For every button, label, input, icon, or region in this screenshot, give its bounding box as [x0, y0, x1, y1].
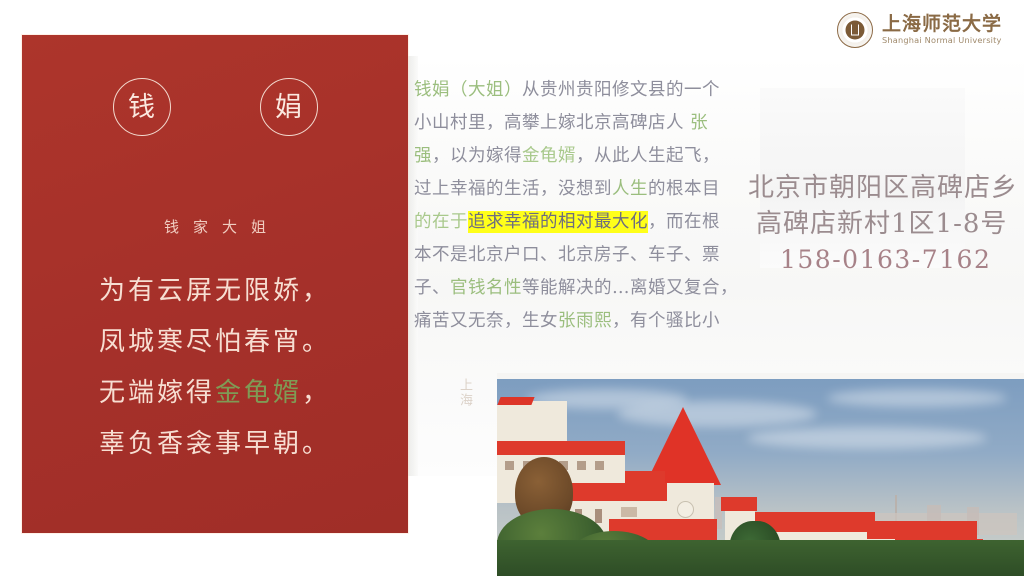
note-line-8: 痛苦又无奈，生女张雨熙，有个骚比小: [414, 305, 766, 338]
note-line-5: 的在于追求幸福的相对最大化，而在根: [414, 206, 766, 239]
note-paragraph: 钱娟（大姐）从贵州贵阳修文县的一个 小山村里，高攀上嫁北京高碑店人 张 强，以为…: [414, 74, 766, 338]
note-line-7-a: 子、: [414, 278, 450, 298]
poem-line-3: 无端嫁得金龟婿，: [22, 380, 408, 406]
note-line-6: 本不是北京户口、北京房子、车子、票: [414, 239, 766, 272]
address-phone: 158-0163-7162: [780, 242, 1024, 278]
note-line-3-b: ，以为嫁得: [432, 146, 522, 166]
note-line-1-a: 钱娟（大姐）: [414, 80, 522, 100]
note-line-4-b: 人生: [612, 179, 648, 199]
note-line-3-d: ，从此人生起飞，: [576, 146, 720, 166]
poem-line-3-green: 金龟婿: [215, 378, 302, 408]
building-roof: [867, 521, 977, 539]
note-line-5-c: ，而在根: [648, 212, 720, 232]
photo-ghost-text: 上海: [455, 378, 474, 408]
note-line-3-a: 强: [414, 146, 432, 166]
building-roof: [497, 441, 625, 455]
note-line-3-c: 金龟婿: [522, 146, 576, 166]
campus-photo: [497, 379, 1024, 576]
window: [621, 507, 637, 517]
note-line-2-c: 张: [684, 113, 708, 133]
cloud: [747, 427, 987, 449]
tower-clock-icon: [677, 501, 694, 518]
note-line-8-c: ，有个骚比小: [612, 311, 720, 331]
ground-foliage: [497, 540, 1024, 576]
window: [577, 461, 586, 470]
note-line-7-b: 官钱名性: [450, 278, 522, 298]
poem-card: 钱 娟 钱家大姐 为有云屏无限娇， 凤城寒尽怕春宵。 无端嫁得金龟婿， 辜负香衾…: [22, 35, 408, 533]
address-line-2: 高碑店新村1区1-8号: [756, 206, 1024, 242]
university-logo-text: 上海师范大学 Shanghai Normal University: [882, 15, 1002, 44]
note-line-1: 钱娟（大姐）从贵州贵阳修文县的一个: [414, 74, 766, 107]
building-roof: [721, 497, 757, 511]
note-line-8-a: 痛苦又无奈，生女: [414, 311, 558, 331]
seal-row: 钱 娟: [22, 78, 408, 136]
university-seal-icon: [837, 12, 873, 48]
slide-canvas: 上海师范大学 Shanghai Normal University 钱 娟 钱家…: [0, 0, 1024, 576]
note-line-7-c: 等能解决的…离婚又复合，: [522, 278, 738, 298]
note-line-4: 过上幸福的生活，没想到人生的根本目: [414, 173, 766, 206]
poem-line-4: 辜负香衾事早朝。: [22, 431, 408, 457]
note-highlight: 追求幸福的相对最大化: [468, 211, 648, 233]
poem-line-2: 凤城寒尽怕春宵。: [22, 329, 408, 355]
poem-body: 为有云屏无限娇， 凤城寒尽怕春宵。 无端嫁得金龟婿， 辜负香衾事早朝。: [22, 278, 408, 482]
university-logo: 上海师范大学 Shanghai Normal University: [837, 12, 1002, 48]
window: [595, 461, 604, 470]
note-line-2-b: 高攀上嫁北京高碑店人: [504, 113, 684, 133]
note-line-1-c: 的一个: [666, 80, 720, 100]
university-name-en: Shanghai Normal University: [882, 36, 1002, 44]
note-line-8-b: 张雨熙: [558, 311, 612, 331]
handwritten-address: 北京市朝阳区高碑店乡 高碑店新村1区1-8号 158-0163-7162: [748, 170, 1024, 278]
poem-line-3-pre: 无端嫁得: [99, 378, 215, 408]
note-line-5-a: 的在于: [414, 212, 468, 232]
note-line-7: 子、官钱名性等能解决的…离婚又复合，: [414, 272, 766, 305]
note-line-2-a: 小山村里，: [414, 113, 504, 133]
seal-surname-icon: 钱: [113, 78, 171, 136]
card-subtitle: 钱家大姐: [22, 216, 408, 237]
note-line-3: 强，以为嫁得金龟婿，从此人生起飞，: [414, 140, 766, 173]
note-line-4-c: 的根本目: [648, 179, 720, 199]
note-line-6-a: 本不是北京户口、北京房子、车子、票: [414, 245, 720, 265]
building-roof: [557, 483, 667, 501]
note-line-4-a: 过上幸福的生活，没想到: [414, 179, 612, 199]
poem-line-1: 为有云屏无限娇，: [22, 278, 408, 304]
window: [595, 509, 602, 523]
poem-line-3-post: ，: [302, 378, 331, 408]
university-name-cn: 上海师范大学: [882, 15, 1002, 34]
window: [505, 461, 514, 470]
address-line-1: 北京市朝阳区高碑店乡: [748, 170, 1024, 206]
cloud: [827, 389, 1007, 407]
seal-givenname-icon: 娟: [260, 78, 318, 136]
note-line-2: 小山村里，高攀上嫁北京高碑店人 张: [414, 107, 766, 140]
building-roof: [497, 397, 534, 405]
note-line-1-b: 从贵州贵阳修文县: [522, 80, 666, 100]
